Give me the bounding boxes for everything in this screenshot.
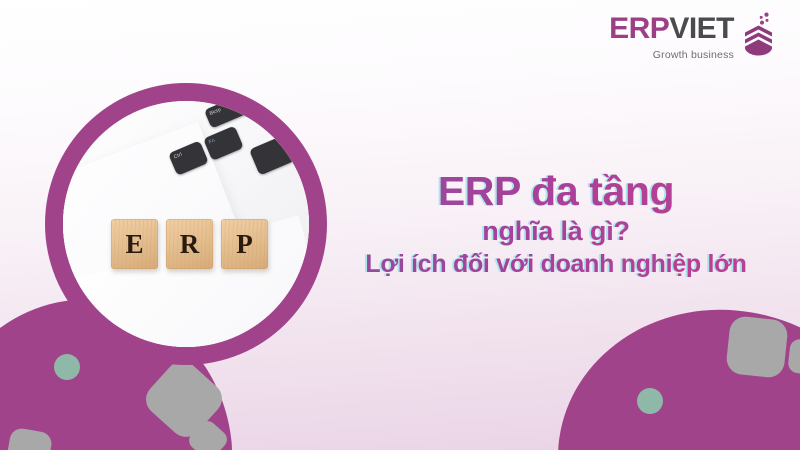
keyboard-key-label: Alt — [293, 132, 301, 140]
logo-text-group: ERPVIET Growth business — [609, 14, 734, 61]
keyboard-key: Ctrl — [168, 140, 209, 175]
photo-circle-ring: BkspCtrlFnZAlt E R P — [45, 83, 327, 365]
keyboard-key — [249, 135, 295, 176]
decor-teal-dot-left — [54, 354, 80, 380]
keyboard-key: Bksp — [204, 101, 267, 129]
chevron-stack-icon — [742, 12, 776, 56]
logo-wordmark: ERPVIET — [609, 14, 734, 44]
logo-tagline: Growth business — [653, 49, 734, 61]
keyboard-key-label: Fn — [208, 138, 216, 146]
wooden-block-e: E — [111, 219, 158, 269]
wooden-block-p: P — [221, 219, 268, 269]
keyboard-key-label: Z — [276, 105, 281, 112]
wooden-block-letter: R — [180, 231, 200, 258]
logo-word-erp: ERP — [609, 12, 669, 45]
banner-canvas: BkspCtrlFnZAlt E R P ERPVIET — [0, 0, 800, 450]
wooden-block-r: R — [166, 219, 213, 269]
wooden-block-letter: E — [125, 231, 143, 258]
keyboard-key: Z — [271, 101, 309, 129]
wooden-block-letter: P — [236, 231, 253, 258]
decor-teal-dot-right — [637, 388, 663, 414]
keyboard-key-label: Ctrl — [173, 152, 183, 161]
photo-background: BkspCtrlFnZAlt E R P — [63, 101, 309, 347]
photo-circle: BkspCtrlFnZAlt E R P — [63, 101, 309, 347]
logo-word-viet: VIET — [669, 12, 734, 45]
wooden-letter-blocks: E R P — [111, 219, 276, 275]
headline-line-2: nghĩa là gì? — [330, 216, 782, 247]
headline-line-1: ERP đa tầng — [330, 168, 782, 214]
keyboard-key: Fn — [203, 126, 244, 161]
headline-block: ERP đa tầng nghĩa là gì? Lợi ích đối với… — [330, 168, 782, 278]
keyboard-key-label: Bksp — [209, 107, 222, 117]
decor-gray-square-right — [725, 315, 789, 379]
headline-line-3: Lợi ích đối với doanh nghiệp lớn — [330, 250, 782, 278]
erpviet-logo[interactable]: ERPVIET Growth business — [609, 14, 776, 61]
